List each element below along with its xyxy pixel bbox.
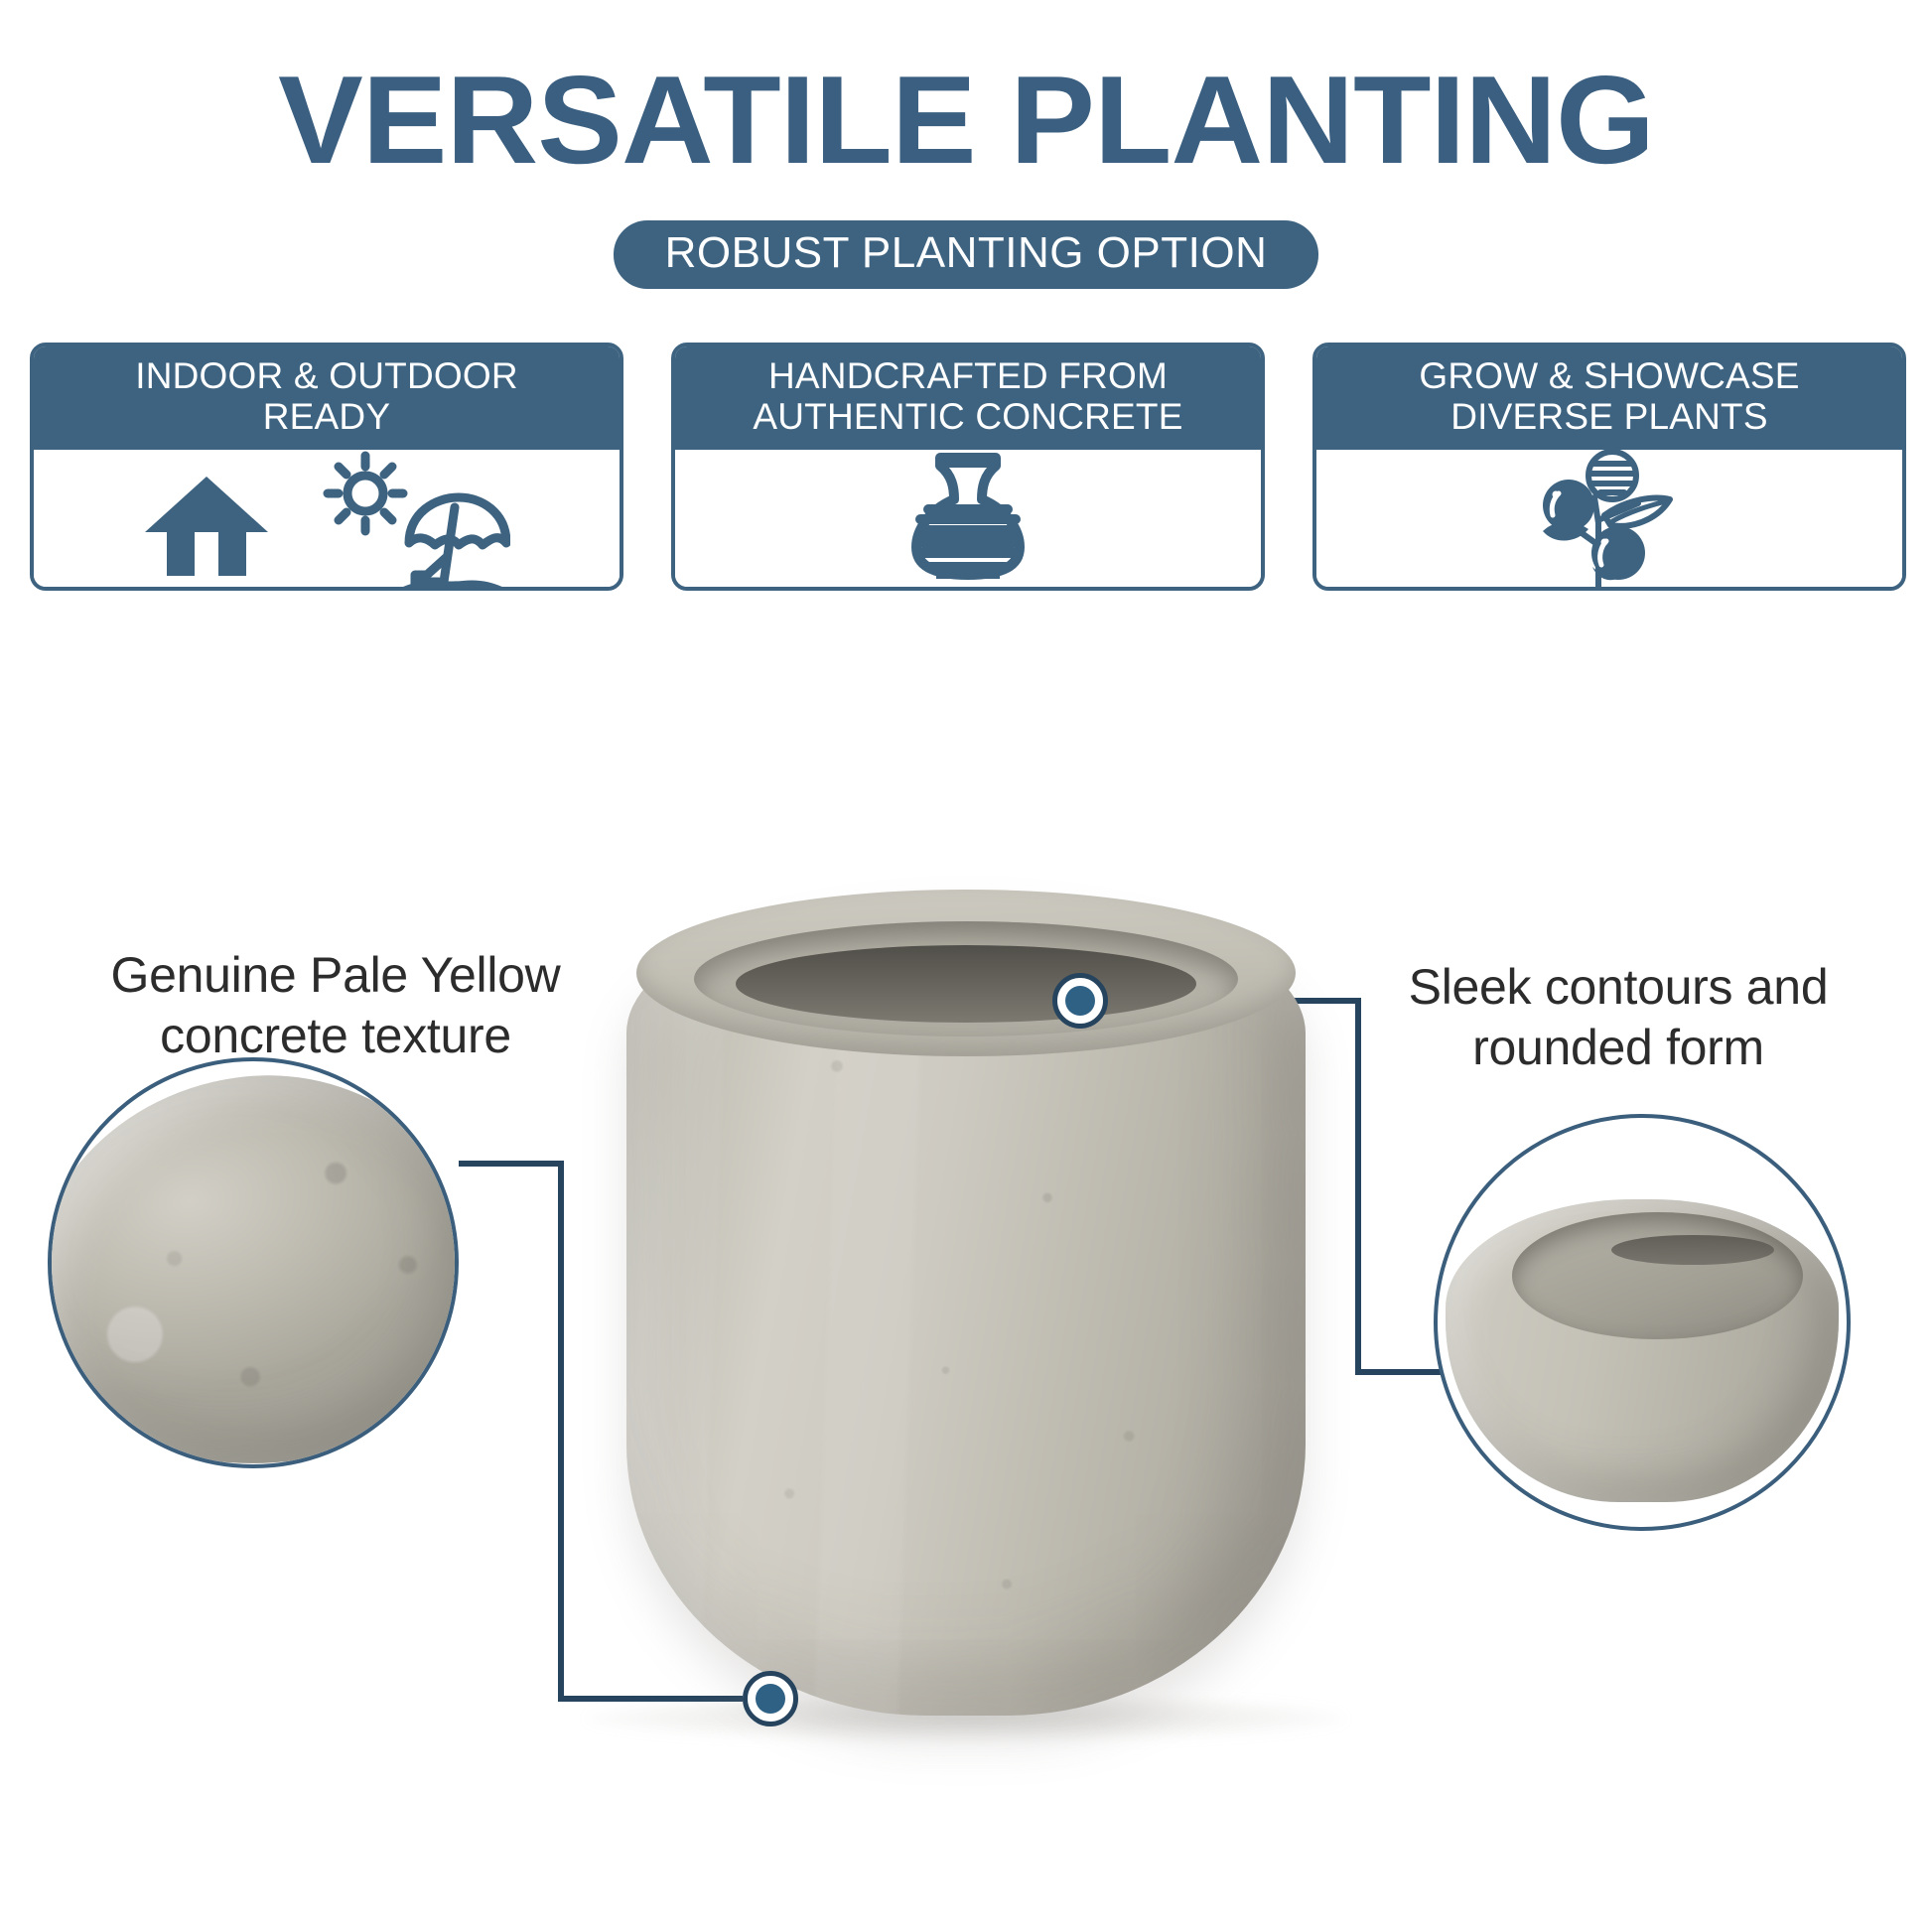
detail-bubble-rim: [1434, 1114, 1851, 1531]
feature-card-2-icons: [675, 450, 1261, 587]
feature-card-concrete: HANDCRAFTED FROM AUTHENTIC CONCRETE: [671, 343, 1265, 591]
feature-card-1-title-line1: INDOOR & OUTDOOR: [135, 355, 518, 396]
callout-texture-line2: concrete texture: [160, 1008, 511, 1063]
product-detail-section: Genuine Pale Yellow concrete texture Sle…: [0, 894, 1932, 1932]
callout-marker-form[interactable]: [1052, 973, 1108, 1029]
feature-card-row: INDOOR & OUTDOOR READY: [30, 343, 1906, 591]
callout-label-form: Sleek contours and rounded form: [1320, 957, 1916, 1078]
feature-card-grow-showcase: GROW & SHOWCASE DIVERSE PLANTS: [1312, 343, 1906, 591]
feature-card-2-title-line1: HANDCRAFTED FROM: [768, 355, 1168, 396]
sun-icon: [328, 456, 403, 531]
feature-card-3-icons: [1316, 450, 1902, 591]
house-icon: [143, 469, 270, 580]
detail-bubble-texture: [48, 1057, 459, 1468]
callout-form-line2: rounded form: [1472, 1020, 1764, 1075]
callout-marker-texture[interactable]: [743, 1671, 798, 1726]
feature-card-2-title-line2: AUTHENTIC CONCRETE: [753, 396, 1182, 437]
subtitle-badge: ROBUST PLANTING OPTION: [614, 220, 1319, 289]
planter-interior: [736, 945, 1196, 1023]
planter-rim-closeup-image: [1446, 1199, 1839, 1502]
feature-card-indoor-outdoor: INDOOR & OUTDOOR READY: [30, 343, 623, 591]
feature-card-2-header: HANDCRAFTED FROM AUTHENTIC CONCRETE: [675, 346, 1261, 450]
feature-card-1-header: INDOOR & OUTDOOR READY: [34, 346, 620, 450]
callout-texture-line1: Genuine Pale Yellow: [111, 947, 561, 1003]
feature-card-1-title-line2: READY: [263, 396, 390, 437]
badge-container: ROBUST PLANTING OPTION: [0, 220, 1932, 289]
page-title: VERSATILE PLANTING: [0, 58, 1932, 183]
concrete-planter-photo: [626, 894, 1306, 1716]
feature-card-3-title-line1: GROW & SHOWCASE: [1419, 355, 1799, 396]
beach-umbrella-icon: [304, 450, 510, 591]
callout-label-texture: Genuine Pale Yellow concrete texture: [28, 945, 643, 1066]
feature-card-1-icons: [34, 450, 620, 591]
infographic-page: VERSATILE PLANTING ROBUST PLANTING OPTIO…: [0, 0, 1932, 1932]
berry-sprig-icon: [1535, 450, 1684, 591]
rim-inner-wall: [1512, 1212, 1803, 1339]
feature-card-3-title-line2: DIVERSE PLANTS: [1450, 396, 1767, 437]
feature-card-3-header: GROW & SHOWCASE DIVERSE PLANTS: [1316, 346, 1902, 450]
callout-form-line1: Sleek contours and: [1409, 959, 1829, 1015]
vase-icon: [906, 450, 1030, 583]
concrete-texture-closeup-image: [48, 1057, 459, 1468]
rim-cavity: [1611, 1235, 1774, 1266]
